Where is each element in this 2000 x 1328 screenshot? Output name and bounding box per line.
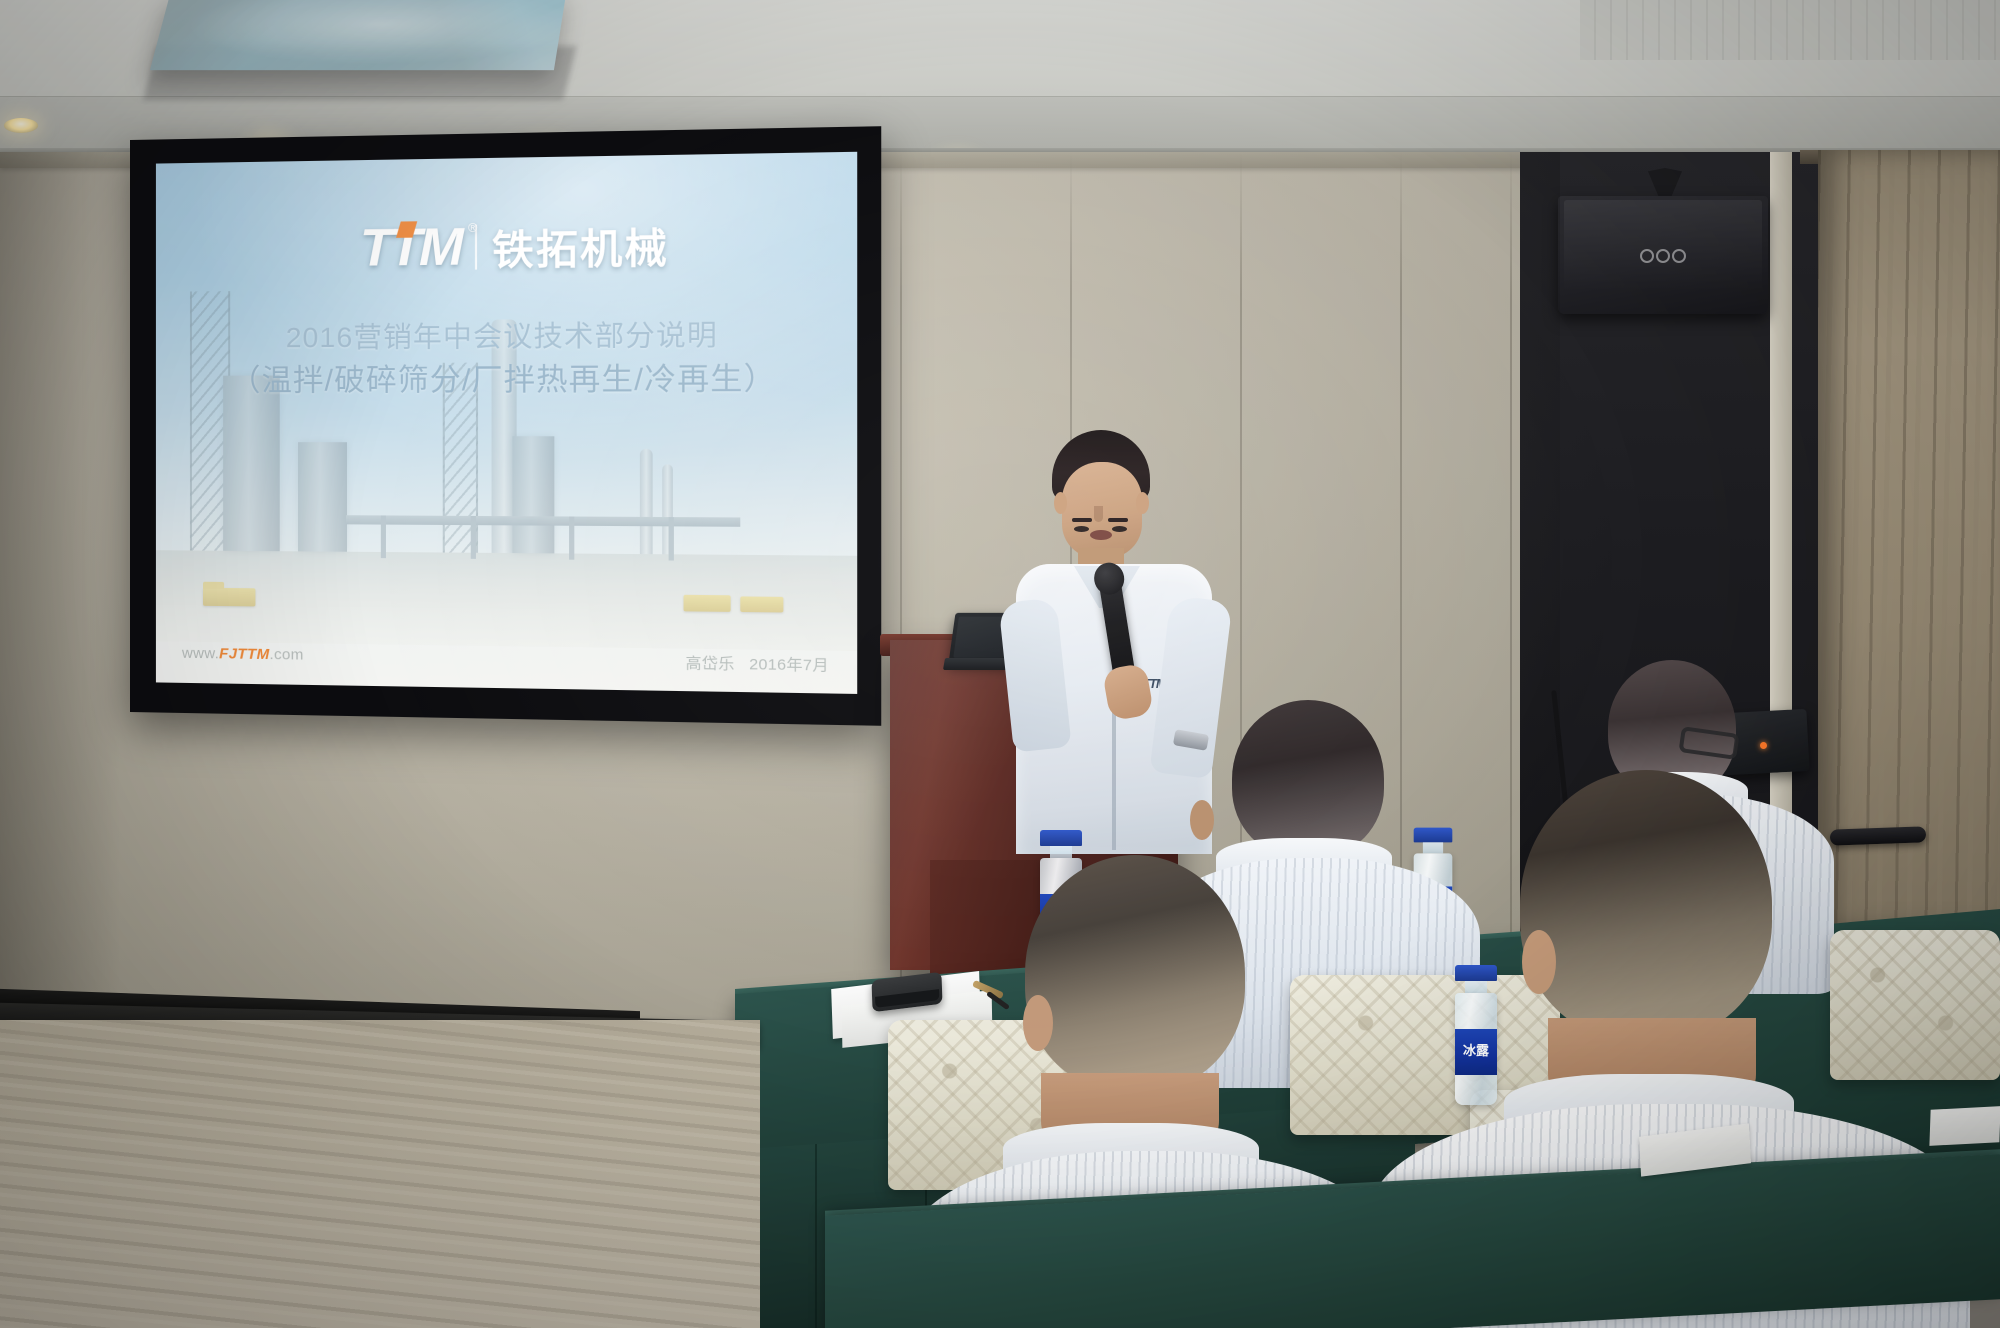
audience-ear [1190, 800, 1214, 840]
water-bottle: 冰露 [1455, 965, 1497, 1105]
website-suffix: .com [269, 646, 303, 664]
registered-mark-icon: ® [468, 221, 474, 235]
plant-truck [203, 587, 255, 606]
presenter-eye [1074, 526, 1089, 532]
projection-screen-frame: TTM ® 铁拓机械 2016营销年中会议技术部分说明 （温拌/破碎筛分/厂拌热… [130, 126, 881, 726]
audience-head [1025, 855, 1245, 1091]
website-prefix: www. [182, 645, 219, 663]
slide-date: 2016年7月 [749, 656, 829, 675]
ttm-wordmark-icon: TTM ® [360, 217, 461, 279]
plant-truck [683, 594, 730, 611]
presenter-nose [1094, 506, 1103, 522]
slide-footer: www.FJTTM.com 高岱乐 2016年7月 [156, 645, 857, 677]
slide-brand-lockup: TTM ® 铁拓机械 [360, 214, 669, 279]
speaker-logo-icon [1640, 248, 1694, 264]
presenter-eyebrow [1108, 518, 1128, 522]
plant-tower [223, 376, 280, 552]
projector-light-panel [150, 0, 566, 70]
plant-stack [640, 449, 653, 555]
slide-subtitle: （温拌/破碎筛分/厂拌热再生/冷再生） [230, 353, 777, 400]
bridge-leg [471, 516, 476, 559]
downlight-icon [4, 118, 38, 133]
logo-divider [475, 225, 477, 270]
plant-hopper [298, 442, 347, 552]
slide-author: 高岱乐 [686, 655, 735, 673]
bridge-leg [569, 517, 574, 560]
presenter-mouth [1090, 530, 1112, 540]
table-paper [1929, 1106, 2000, 1146]
tablecloth-pleat [815, 1144, 817, 1328]
presenter-eyebrow [1072, 518, 1092, 522]
brand-name-cn: 铁拓机械 [492, 215, 669, 277]
plant-truck [741, 596, 784, 612]
slide-website: www.FJTTM.com [182, 645, 304, 668]
website-brand: FJTTM [219, 646, 269, 664]
bottle-cap [1040, 830, 1082, 846]
bridge-leg [669, 517, 674, 561]
bottle-neck [1465, 981, 1487, 993]
projected-slide: TTM ® 铁拓机械 2016营销年中会议技术部分说明 （温拌/破碎筛分/厂拌热… [156, 152, 857, 694]
bottle-body: 冰露 [1455, 993, 1497, 1105]
bridge-leg [381, 516, 386, 559]
bottle-cap [1455, 965, 1497, 981]
ceiling-grille [1580, 0, 2000, 60]
plant-mixer [513, 437, 555, 554]
presenter-ear [1136, 492, 1149, 514]
presenter-eye [1112, 526, 1127, 532]
carpet-floor [0, 1020, 760, 1328]
conference-room-photo: TTM ® 铁拓机械 2016营销年中会议技术部分说明 （温拌/破碎筛分/厂拌热… [0, 0, 2000, 1328]
bottle-brand: 冰露 [1455, 1040, 1497, 1059]
slide-title: 2016营销年中会议技术部分说明 [286, 313, 718, 356]
audience-ear [1023, 995, 1053, 1051]
presenter-ear [1054, 492, 1067, 514]
audience-head [1520, 770, 1772, 1040]
plant-conveyor-bridge [346, 516, 741, 528]
audience-ear [1522, 930, 1556, 994]
bottle-label: 冰露 [1455, 1029, 1497, 1075]
slide-author-date: 高岱乐 2016年7月 [686, 652, 829, 676]
wall-speaker [1558, 196, 1768, 314]
audience-head [1232, 700, 1384, 858]
